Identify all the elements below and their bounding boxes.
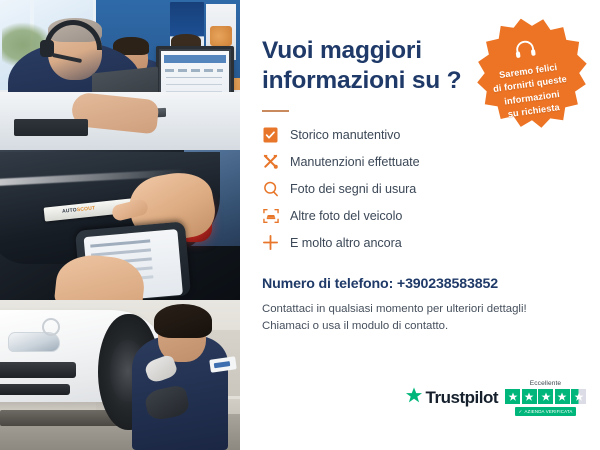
check-circle-icon: ✓ [519,409,523,415]
trustpilot-wordmark: Trustpilot [426,388,498,408]
content-panel: Vuoi maggiori informazioni su ? Saremo f… [240,0,600,450]
car-bumper-inspection-photo: AUTOSCOUT [0,150,240,300]
feature-label: Manutenzioni effettuate [290,155,420,169]
call-center-agents-photo [0,0,240,150]
contact-block: Numero di telefono: +390238583852 Contat… [262,276,578,336]
car-grille-lower [0,384,70,395]
feature-item-manutenzioni-effettuate: Manutenzioni effettuate [262,149,578,175]
strip-brand-label: AUTOSCOUT [62,205,96,214]
trustpilot-rating: Eccellente [505,380,586,416]
verified-label: AZIENDA VERIFICATA [525,409,573,414]
headline-line-2: informazioni su ? [262,67,461,94]
badge-text: Saremo felici di fornirti queste informa… [482,59,580,124]
trustpilot-star-logo-icon [405,387,423,409]
title-underline-rule [262,110,289,112]
feature-label: Storico manutentivo [290,128,400,142]
photo-column: AUTOSCOUT [0,0,240,450]
car-frame-icon [262,207,279,224]
feature-label: E molto altro ancora [290,236,402,250]
feature-item-molto-altro: E molto altro ancora [262,230,578,256]
keyboard [14,119,88,136]
car-grille-upper [0,362,76,378]
feature-label: Foto dei segni di usura [290,182,416,196]
checklist-document-icon [262,126,279,143]
wrench-screwdriver-icon [262,153,279,170]
trustpilot-stars [505,389,586,404]
contact-description: Contattaci in qualsiasi momento per ulte… [262,301,578,336]
trustpilot-widget[interactable]: Trustpilot Eccellente [405,380,586,416]
contact-description-line-1: Contattaci in qualsiasi momento per ulte… [262,301,578,319]
feature-item-foto-segni-usura: Foto dei segni di usura [262,176,578,202]
feature-label: Altre foto del veicolo [290,209,402,223]
plus-icon [262,234,279,251]
star-filled-3 [538,389,553,404]
trustpilot-verified-badge: ✓ AZIENDA VERIFICATA [515,407,577,416]
page-title: Vuoi maggiori informazioni su ? [262,36,472,96]
badge-content: Saremo felici di fornirti queste informa… [478,30,580,123]
trustpilot-rating-label: Eccellente [530,380,561,387]
car-emblem [42,318,60,336]
mechanic-wheel-inspection-photo [0,300,240,450]
star-half-5 [571,389,586,404]
mechanic-hair [154,304,212,338]
feature-list: Storico manutentivo Manutenzioni effettu… [262,122,578,256]
request-info-badge: Saremo felici di fornirti queste informa… [462,10,595,143]
feature-item-altre-foto-veicolo: Altre foto del veicolo [262,203,578,229]
contact-description-line-2: Chiamaci o usa il modulo di contatto. [262,318,578,336]
star-filled-1 [505,389,520,404]
trustpilot-brand: Trustpilot [405,387,498,409]
star-filled-2 [522,389,537,404]
star-filled-4 [555,389,570,404]
headline-line-1: Vuoi maggiori [262,37,422,64]
magnifier-icon [262,180,279,197]
promo-banner: AUTOSCOUT [0,0,600,450]
phone-number-label[interactable]: Numero di telefono: +390238583852 [262,276,578,292]
